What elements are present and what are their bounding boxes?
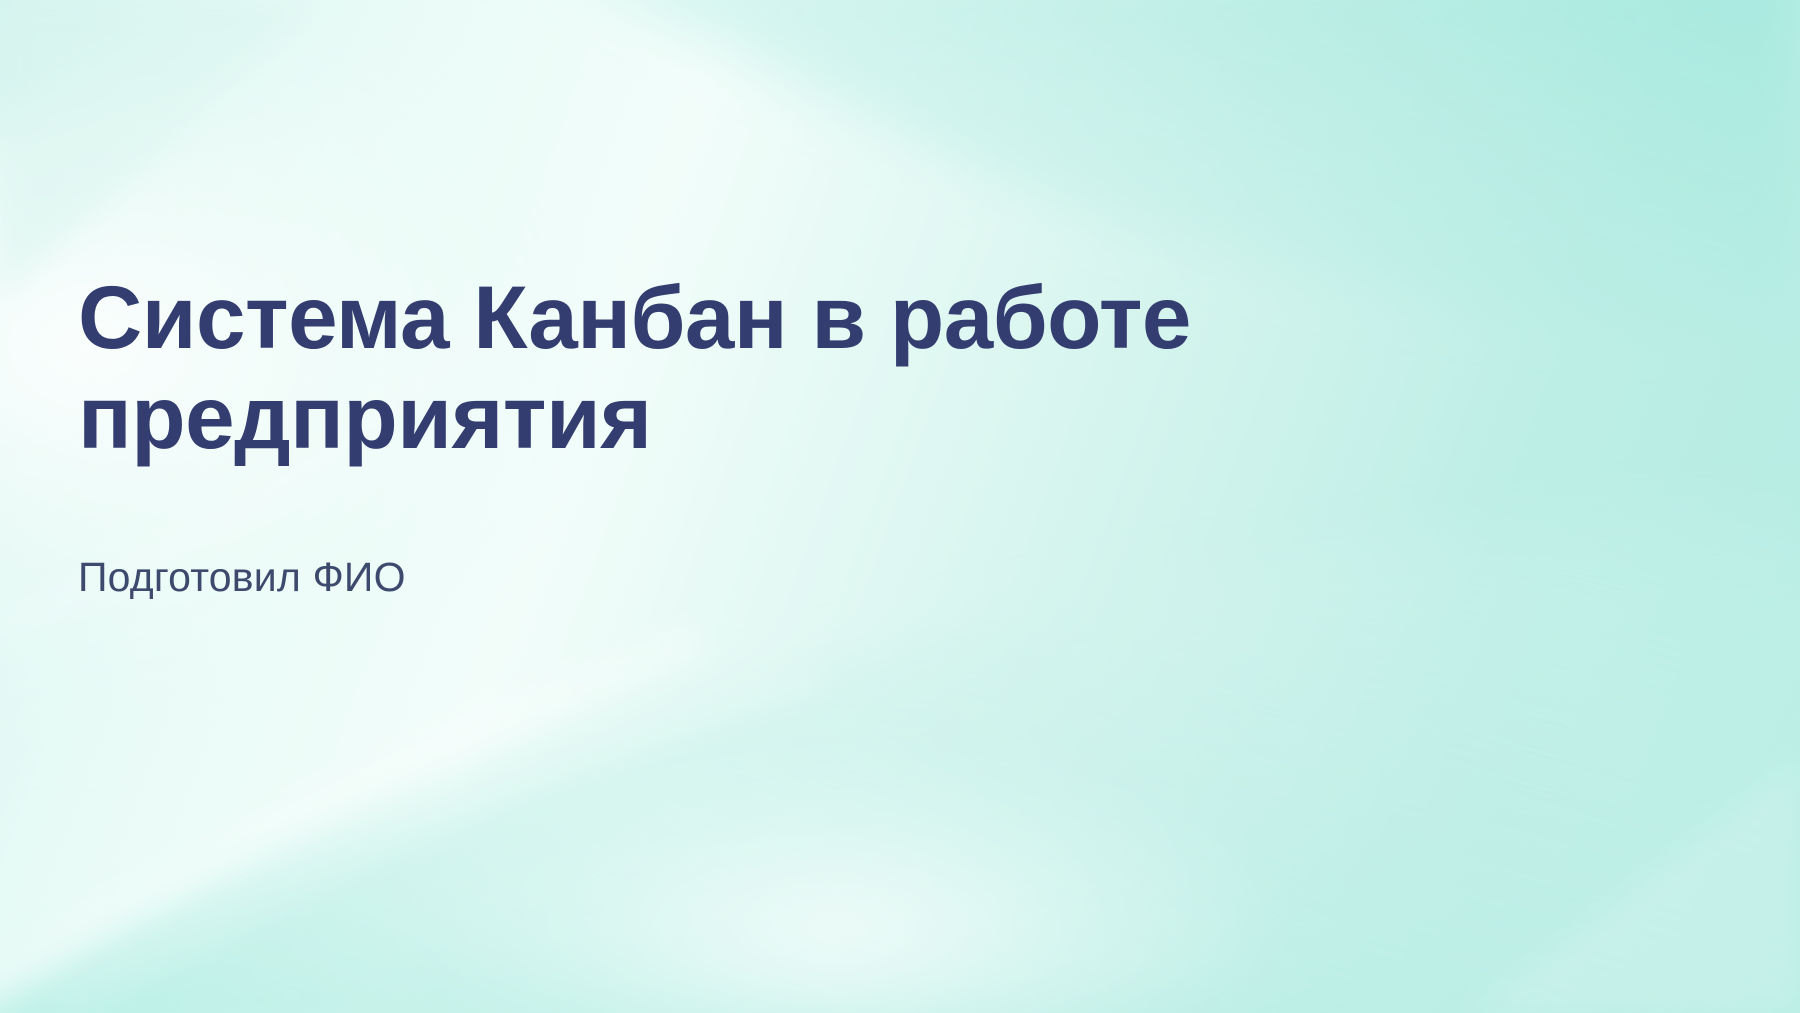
page-title: Система Канбан в работе предприятия <box>78 268 1558 467</box>
background-glow-bottom <box>300 570 1420 1013</box>
title-slide: Система Канбан в работе предприятия Подг… <box>0 0 1800 1013</box>
background-edge-bottom-right <box>1470 760 1800 1013</box>
slide-subtitle: Подготовил ФИО <box>78 467 1558 602</box>
title-block: Система Канбан в работе предприятия Подг… <box>78 268 1558 603</box>
background-streak-one <box>0 640 700 1013</box>
background-streak-two <box>60 680 820 1013</box>
background-edge-top-left <box>0 0 320 300</box>
